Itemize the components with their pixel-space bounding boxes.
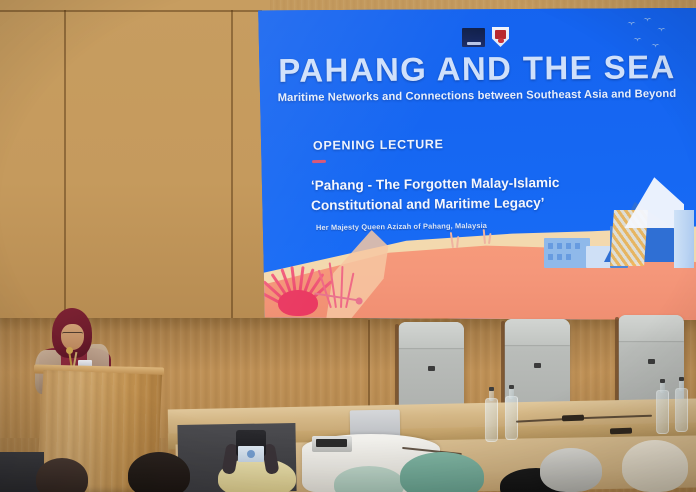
audience-head <box>36 458 88 492</box>
water-bottle <box>656 390 669 434</box>
wall-seam-vertical-3 <box>368 320 370 412</box>
speaker-glasses <box>62 332 83 338</box>
fan-coral-core <box>278 290 318 316</box>
accent-rule-divider <box>312 160 326 163</box>
building-window <box>566 243 571 249</box>
building-window <box>548 243 553 249</box>
wall-seam-horizontal-top <box>0 10 262 12</box>
chair-side-trim <box>395 324 399 414</box>
slide-kicker: OPENING LECTURE <box>313 137 444 153</box>
slide-content: PAHANG AND THE SEA Maritime Networks and… <box>256 8 696 320</box>
university-crest-logo <box>492 27 509 47</box>
building-window <box>557 254 562 260</box>
bird-icon <box>657 28 666 33</box>
audience-head <box>622 440 688 492</box>
building-window <box>548 254 553 260</box>
slide-title: PAHANG AND THE SEA <box>256 50 696 87</box>
projector-device <box>312 436 352 452</box>
audience-head <box>128 452 190 492</box>
lecture-title: ‘Pahang - The Forgotten Malay-Islamic Co… <box>311 172 641 215</box>
water-bottle <box>675 388 688 432</box>
cable-connector <box>562 415 584 422</box>
lecture-hall-photo: PAHANG AND THE SEA Maritime Networks and… <box>0 0 696 492</box>
projection-screen: PAHANG AND THE SEA Maritime Networks and… <box>256 8 696 320</box>
water-bottle <box>485 398 498 442</box>
chair-side-trim <box>615 317 619 407</box>
bird-icon <box>643 18 652 23</box>
wall-seam-vertical-2 <box>231 10 233 332</box>
logo-group <box>462 27 509 47</box>
institution-wordmark-logo <box>462 28 485 47</box>
audience-head <box>540 448 602 492</box>
building-row-left <box>544 238 590 268</box>
pale-pillar <box>674 210 694 268</box>
building-window <box>557 243 562 249</box>
water-bottle <box>505 396 518 440</box>
smartphone-screen[interactable] <box>238 446 264 462</box>
bird-icon <box>633 38 642 43</box>
wall-panel-upper-left <box>0 0 270 330</box>
building-window <box>575 243 580 249</box>
audience-head <box>400 452 484 492</box>
audience-phone-photographer <box>222 428 280 472</box>
building-window <box>566 254 571 260</box>
cable-connector <box>610 428 632 435</box>
bird-icon <box>627 22 636 27</box>
wall-seam-vertical-1 <box>64 10 66 332</box>
microphone-head <box>66 347 73 354</box>
